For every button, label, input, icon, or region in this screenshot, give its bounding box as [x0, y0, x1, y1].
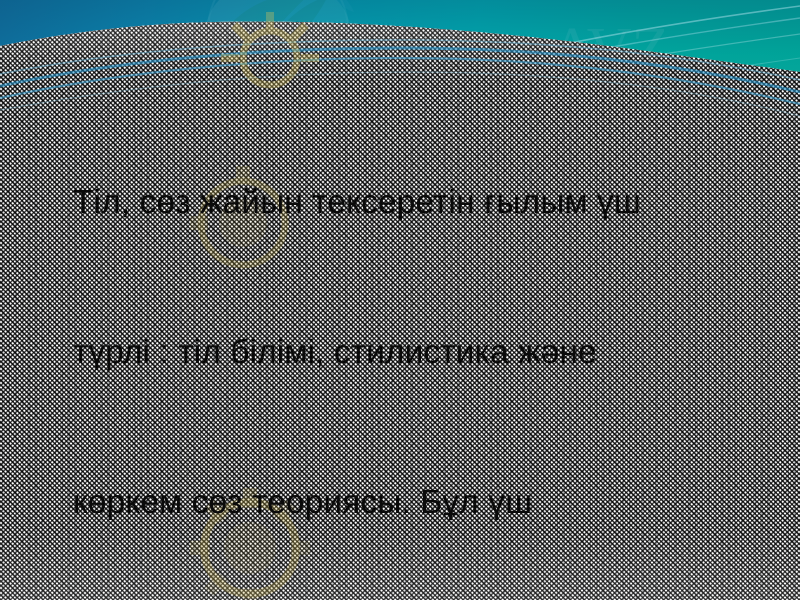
text-line: Тіл, сөз жайын тексеретін ғылым үш: [73, 178, 773, 228]
presentation-slide: AVZ: [0, 0, 800, 600]
slide-body-text: Тіл, сөз жайын тексеретін ғылым үш түрлі…: [73, 78, 773, 600]
text-line: түрлі : тіл білімі, стилистика және: [73, 328, 773, 378]
text-line: көркем сөз теориясы. Бұл үш: [73, 478, 773, 528]
